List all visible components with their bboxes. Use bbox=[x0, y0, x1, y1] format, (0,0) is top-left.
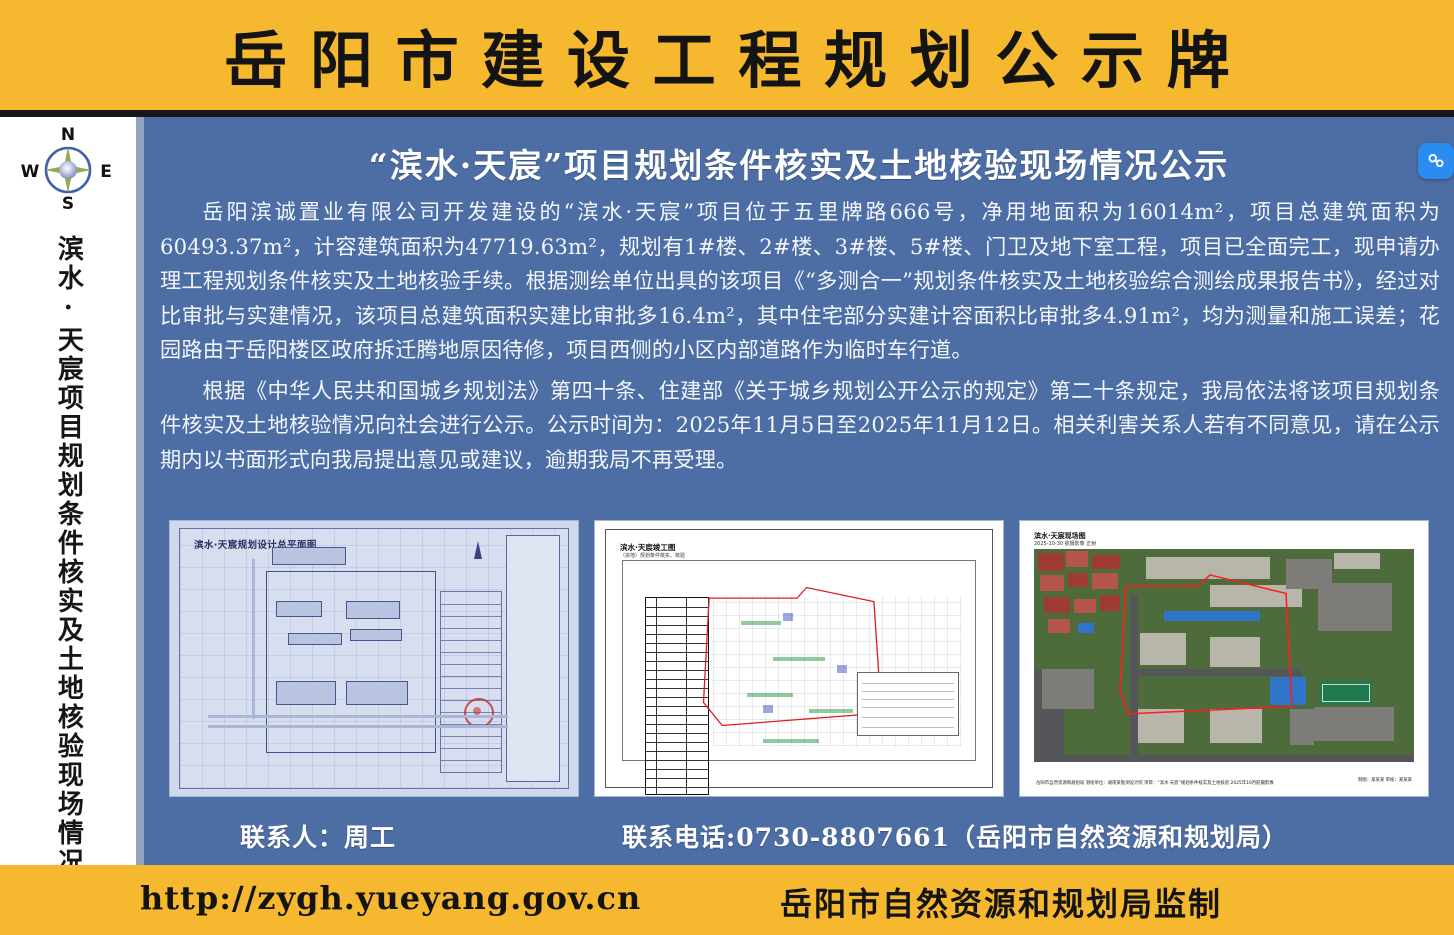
figure-row: 滨水·天宸规划设计总平面图 bbox=[170, 521, 1428, 796]
page-title: “滨水·天宸”项目规划条件核实及土地核验现场情况公示 bbox=[144, 139, 1454, 187]
svg-text:E: E bbox=[100, 162, 112, 182]
blueprint-building bbox=[346, 681, 408, 705]
footer-website-url[interactable]: http://zygh.yueyang.gov.cn bbox=[140, 879, 641, 917]
notice-paragraph-2: 根据《中华人民共和国城乡规划法》第四十条、住建部《关于城乡规划公开公示的规定》第… bbox=[160, 374, 1440, 478]
blueprint-title-block bbox=[506, 535, 560, 782]
blueprint-building bbox=[288, 633, 342, 645]
contact-phone: 联系电话:0730-8807661（岳阳市自然资源和规划局） bbox=[622, 818, 1288, 854]
aerial-parcel-boundary bbox=[1034, 549, 1414, 762]
board-footer: http://zygh.yueyang.gov.cn 岳阳市自然资源和规划局监制 bbox=[0, 865, 1454, 935]
board-header-title: 岳阳市建设工程规划公示牌 bbox=[202, 10, 1253, 100]
figure-survey-drawing[interactable]: 滨水·天宸竣工图 （宗地）规划条件核实、核验 bbox=[595, 521, 1003, 796]
notice-paragraph-1: 岳阳滨诚置业有限公司开发建设的“滨水·天宸”项目位于五里牌路666号，净用地面积… bbox=[160, 195, 1440, 368]
blueprint-inner-frame: 滨水·天宸规划设计总平面图 bbox=[179, 528, 569, 789]
main-panel: “滨水·天宸”项目规划条件核实及土地核验现场情况公示 岳阳滨诚置业有限公司开发建… bbox=[144, 117, 1454, 865]
survey-inner-frame bbox=[622, 560, 976, 761]
blueprint-index-table bbox=[440, 591, 502, 773]
blueprint-building bbox=[276, 681, 336, 705]
notice-body: 岳阳滨诚置业有限公司开发建设的“滨水·天宸”项目位于五里牌路666号，净用地面积… bbox=[160, 195, 1440, 483]
survey-outer-frame: 滨水·天宸竣工图 （宗地）规划条件核实、核验 bbox=[605, 529, 993, 788]
blueprint-road bbox=[208, 725, 508, 728]
approval-seal bbox=[464, 698, 494, 728]
footer-organization: 岳阳市自然资源和规划局监制 bbox=[780, 879, 1222, 925]
aerial-subtitle: 2025-10-30 航摄影像 正射 bbox=[1034, 540, 1096, 547]
contact-row: 联系人：周工 联系电话:0730-8807661（岳阳市自然资源和规划局） bbox=[144, 807, 1454, 865]
blueprint-building bbox=[276, 601, 322, 617]
aerial-footnote-left: 岳阳市自然资源和规划局 测绘单位：湖南某勘测设计院 项目：“滨水·天宸”规划条件… bbox=[1036, 781, 1274, 788]
compass-rose-icon: N S W E bbox=[18, 127, 118, 213]
left-sidebar: N S W E 滨水·天宸项目规划条件核实及土地核验现场情况公示 bbox=[0, 117, 136, 865]
svg-text:S: S bbox=[62, 194, 74, 213]
aerial-footnote-right: 制图：某某某 审核：某某某 bbox=[1358, 777, 1412, 784]
cloud-disk-icon[interactable] bbox=[1418, 143, 1454, 179]
contact-person: 联系人：周工 bbox=[240, 818, 396, 854]
survey-subtitle: （宗地）规划条件核实、核验 bbox=[620, 552, 685, 559]
board-header: 岳阳市建设工程规划公示牌 bbox=[0, 0, 1454, 110]
blueprint-building bbox=[272, 547, 346, 565]
publicity-board: 岳阳市建设工程规划公示牌 N S bbox=[0, 0, 1454, 935]
sidebar-vertical-title: 滨水·天宸项目规划条件核实及土地核验现场情况公示 bbox=[53, 235, 84, 935]
sidebar-divider bbox=[136, 117, 144, 865]
svg-text:W: W bbox=[21, 162, 40, 182]
sidebar-vertical-title-wrap: 滨水·天宸项目规划条件核实及土地核验现场情况公示 bbox=[0, 235, 136, 935]
header-divider-rule bbox=[0, 110, 1454, 117]
figure-aerial-photo[interactable]: 滨水·天宸现场图 2025-10-30 航摄影像 正射 bbox=[1020, 521, 1428, 796]
figure-site-plan-blueprint[interactable]: 滨水·天宸规划设计总平面图 bbox=[170, 521, 578, 796]
svg-text:N: N bbox=[61, 127, 75, 145]
blueprint-road bbox=[252, 559, 255, 719]
north-arrow-icon bbox=[474, 541, 482, 559]
blueprint-building bbox=[346, 601, 400, 619]
survey-legend-box bbox=[857, 672, 959, 736]
aerial-image bbox=[1034, 549, 1414, 762]
blueprint-building bbox=[350, 629, 402, 641]
